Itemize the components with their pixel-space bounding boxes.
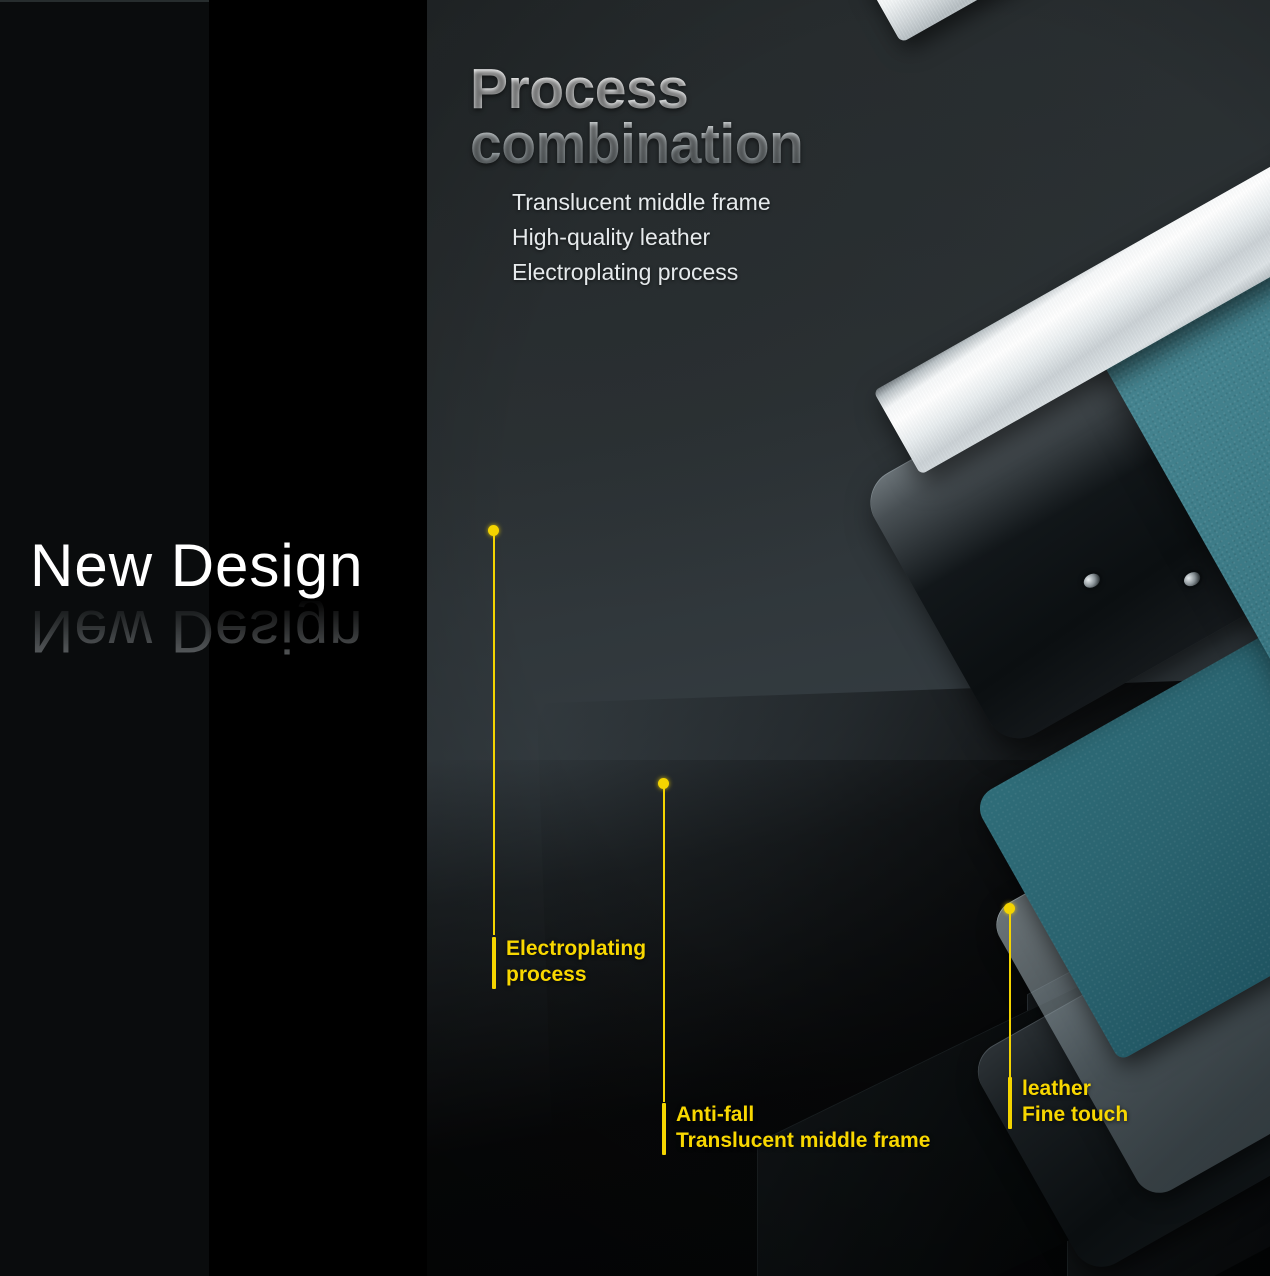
top-hairline-divider [0,0,209,2]
camera-lens-1 [1081,571,1102,591]
callout-label-line-1: leather [1022,1076,1128,1102]
headline-line-2: combination [470,117,890,172]
product-marketing-banner: New Design New Design NEW DESIGN [0,0,1270,1276]
callout-label: Anti-fall Translucent middle frame [676,1102,930,1155]
callout-label-line-1: Electroplating [506,936,646,962]
callout-leader-line [663,788,665,1102]
wordmark-new-design: New Design [30,536,363,596]
callout-label-line-2: Translucent middle frame [676,1128,930,1154]
callout-leader-line [1009,913,1011,1079]
callout-label: leather Fine touch [1022,1076,1128,1129]
page-title: Process combination [470,62,890,171]
callout-tick-bar [662,1103,666,1155]
feature-list: Translucent middle frame High-quality le… [472,185,890,290]
metal-frame-bar-upper: NEW DESIGN [863,0,1270,43]
wordmark-new-design-reflection: New Design [30,601,363,661]
feature-item-2: High-quality leather [512,220,890,255]
callout-label: Electroplating process [506,936,646,989]
callout-label-line-2: process [506,962,646,988]
headline-block: Process combination Translucent middle f… [470,62,890,290]
feature-item-1: Translucent middle frame [512,185,890,220]
callout-tick-bar [492,937,496,989]
camera-lens-2 [1181,569,1202,589]
callout-leader-line [493,535,495,935]
callout-tick-bar [1008,1077,1012,1129]
callout-label-line-2: Fine touch [1022,1102,1128,1128]
headline-line-1: Process [470,62,890,117]
callout-label-line-1: Anti-fall [676,1102,930,1128]
feature-item-3: Electroplating process [512,255,890,290]
